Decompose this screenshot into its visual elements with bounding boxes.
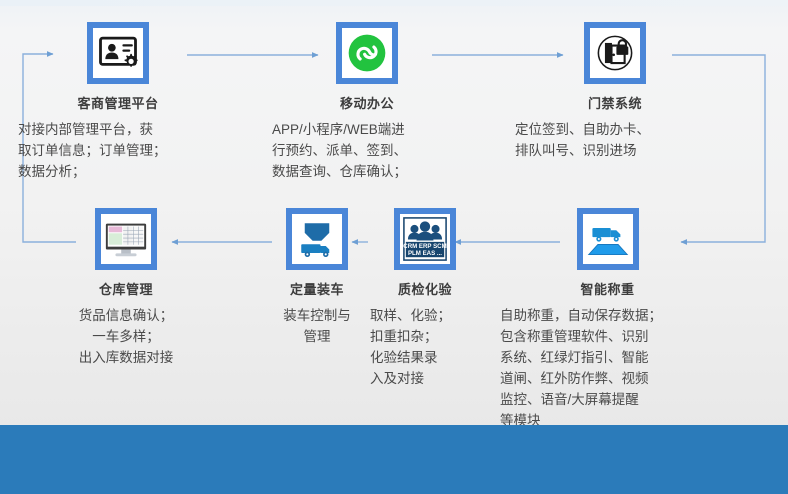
icon-frame [286,208,348,270]
footer-bar [0,425,788,494]
desc-line: 取样、化验； [370,305,480,326]
desc-line: APP/小程序/WEB端进 [272,119,462,140]
icon-frame: CRM ERP SCM PLM EAS ... [394,208,456,270]
node-merchant-platform[interactable]: 客商管理平台 对接内部管理平台，获 取订单信息；订单管理； 数据分析； [18,22,218,182]
desc-line: 数据查询、仓库确认； [272,161,462,182]
desc-line: 包含称重管理软件、识别 [500,326,715,347]
node-title: 智能称重 [500,279,715,298]
node-description: APP/小程序/WEB端进 行预约、派单、签到、 数据查询、仓库确认； [272,119,462,182]
wechat-miniprogram-icon [342,28,392,78]
desc-line: 一车多样； [22,326,230,347]
diagram-canvas: 客商管理平台 对接内部管理平台，获 取订单信息；订单管理； 数据分析； 移动办公… [0,0,788,494]
node-quality-inspection[interactable]: CRM ERP SCM PLM EAS ... 质检化验 取样、化验； 扣重扣杂… [370,208,480,389]
desc-line: 对接内部管理平台，获 [18,119,218,140]
desc-line: 货品信息确认； [22,305,230,326]
icon-frame [336,22,398,84]
node-warehouse-management[interactable]: 仓库管理 货品信息确认； 一车多样； 出入库数据对接 [22,208,230,368]
crm-erp-people-icon: CRM ERP SCM PLM EAS ... [400,214,450,264]
icon-frame [584,22,646,84]
node-mobile-office[interactable]: 移动办公 APP/小程序/WEB端进 行预约、派单、签到、 数据查询、仓库确认； [272,22,462,182]
node-smart-weighing[interactable]: 智能称重 自助称重，自动保存数据； 包含称重管理软件、识别 系统、红绿灯指引、智… [500,208,715,431]
icon-frame [87,22,149,84]
node-description: 取样、化验； 扣重扣杂； 化验结果录 入及对接 [370,305,480,389]
hopper-truck-icon [292,214,342,264]
desc-line: 扣重扣杂； [370,326,480,347]
node-description: 对接内部管理平台，获 取订单信息；订单管理； 数据分析； [18,119,218,182]
desc-line: 入及对接 [370,368,480,389]
door-lock-icon [590,28,640,78]
top-strip [0,0,788,6]
crm-erp-label-line2: PLM EAS ... [408,250,442,257]
desc-line: 监控、语音/大屏幕提醒 [500,389,715,410]
desktop-monitor-icon [101,214,151,264]
icon-frame [577,208,639,270]
icon-frame [95,208,157,270]
truck-scale-icon [583,214,633,264]
desc-line: 出入库数据对接 [22,347,230,368]
desc-line: 化验结果录 [370,347,480,368]
desc-line: 取订单信息；订单管理； [18,140,218,161]
desc-line: 定位签到、自助办卡、 [515,119,715,140]
desc-line: 装车控制与 [252,305,382,326]
desc-line: 排队叫号、识别进场 [515,140,715,161]
desc-line: 自助称重，自动保存数据； [500,305,715,326]
node-description: 定位签到、自助办卡、 排队叫号、识别进场 [515,119,715,161]
node-title: 仓库管理 [22,279,230,298]
node-description: 货品信息确认； 一车多样； 出入库数据对接 [22,305,230,368]
id-card-gear-icon [93,28,143,78]
node-title: 定量装车 [252,279,382,298]
node-title: 移动办公 [272,93,462,112]
desc-line: 数据分析； [18,161,218,182]
node-title: 质检化验 [370,279,480,298]
node-title: 客商管理平台 [18,93,218,112]
node-description: 装车控制与 管理 [252,305,382,347]
node-title: 门禁系统 [515,93,715,112]
desc-line: 道闸、红外防作弊、视频 [500,368,715,389]
node-access-control[interactable]: 门禁系统 定位签到、自助办卡、 排队叫号、识别进场 [515,22,715,161]
node-description: 自助称重，自动保存数据； 包含称重管理软件、识别 系统、红绿灯指引、智能 道闸、… [500,305,715,431]
desc-line: 管理 [252,326,382,347]
desc-line: 行预约、派单、签到、 [272,140,462,161]
desc-line: 系统、红绿灯指引、智能 [500,347,715,368]
node-quantitative-loading[interactable]: 定量装车 装车控制与 管理 [252,208,382,347]
